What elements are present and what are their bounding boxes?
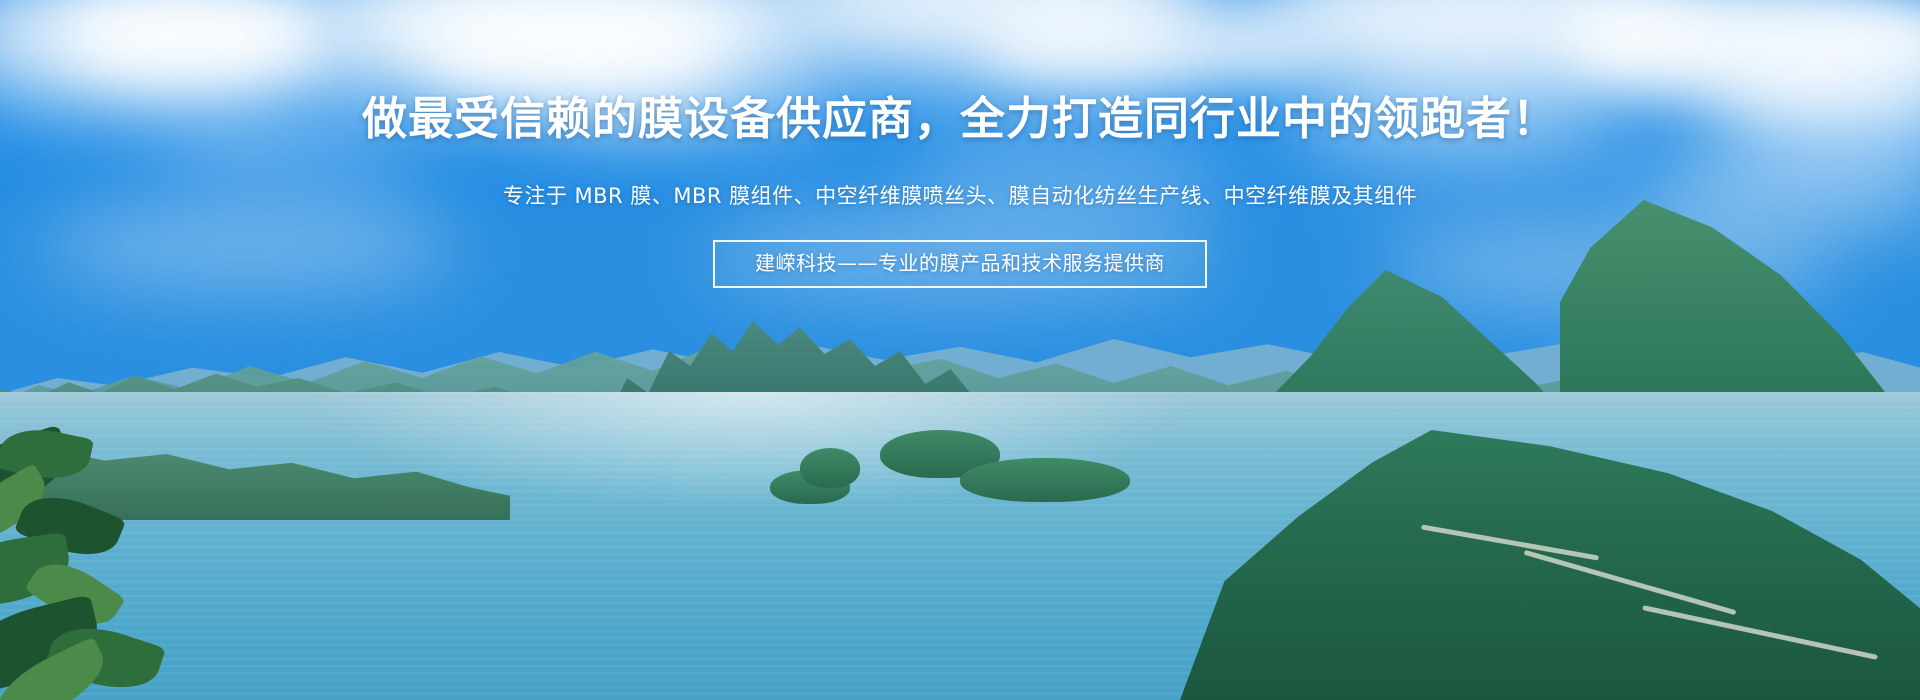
text-overlay: 做最受信赖的膜设备供应商，全力打造同行业中的领跑者！ 专注于 MBR 膜、MBR… — [0, 0, 1920, 700]
banner-headline: 做最受信赖的膜设备供应商，全力打造同行业中的领跑者！ — [0, 96, 1920, 141]
banner-tagline-box: 建嵘科技——专业的膜产品和技术服务提供商 — [713, 240, 1207, 288]
banner-tagline-container: 建嵘科技——专业的膜产品和技术服务提供商 — [0, 240, 1920, 288]
banner-subtitle: 专注于 MBR 膜、MBR 膜组件、中空纤维膜喷丝头、膜自动化纺丝生产线、中空纤… — [0, 186, 1920, 207]
hero-banner: 做最受信赖的膜设备供应商，全力打造同行业中的领跑者！ 专注于 MBR 膜、MBR… — [0, 0, 1920, 700]
